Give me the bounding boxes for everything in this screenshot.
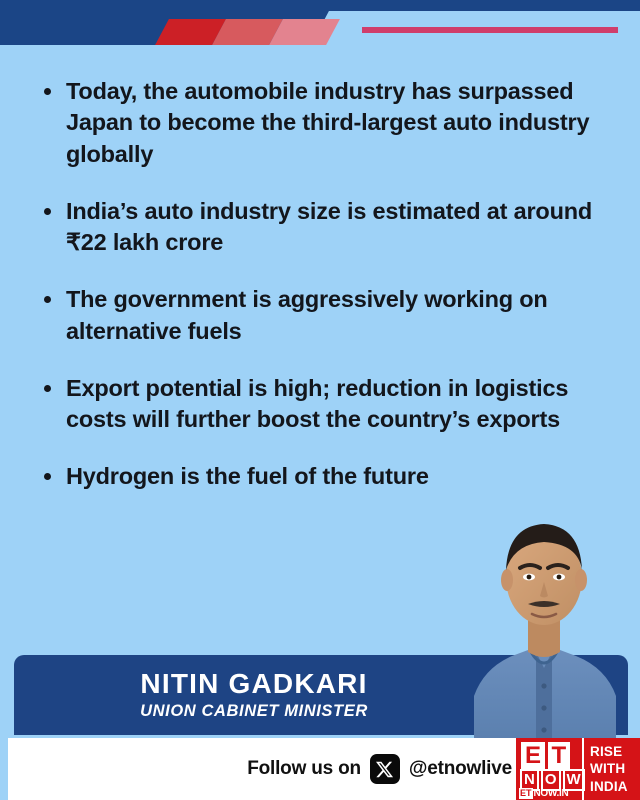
speaker-photo	[470, 500, 618, 745]
logo-letter-t: T	[548, 742, 570, 771]
logo-url-prefix: ET	[519, 788, 533, 799]
quote-points-list: Today, the automobile industry has surpa…	[38, 76, 618, 519]
speaker-banner-text: NITIN GADKARI UNION CABINET MINISTER	[14, 655, 494, 735]
speaker-name: NITIN GADKARI	[140, 669, 367, 698]
x-twitter-icon[interactable]	[370, 754, 400, 784]
social-handle[interactable]: @etnowlive	[409, 758, 512, 780]
footer-bar: Follow us on @etnowlive E T N O W	[0, 738, 640, 800]
speaker-designation: UNION CABINET MINISTER	[140, 702, 368, 721]
etnow-logo[interactable]: E T N O W ET NOW.IN RISE WITH INDIA	[516, 738, 640, 800]
list-item: Today, the automobile industry has surpa…	[38, 76, 618, 170]
list-item: Hydrogen is the fuel of the future	[38, 461, 618, 492]
accent-stripe-pink	[269, 19, 340, 45]
list-item: The government is aggressively working o…	[38, 284, 618, 347]
top-blue-band	[0, 0, 640, 11]
footer-left-accent	[0, 738, 8, 800]
logo-letter-e: E	[521, 742, 545, 771]
tagline-line-3: INDIA	[590, 778, 628, 795]
logo-website: ET NOW.IN	[519, 788, 568, 799]
news-quote-card: Today, the automobile industry has surpa…	[0, 0, 640, 800]
tagline-line-2: WITH	[590, 760, 625, 777]
header-rule	[362, 27, 618, 33]
etnow-logo-mark: E T N O W ET NOW.IN	[516, 738, 584, 800]
logo-url-rest: NOW.IN	[534, 789, 569, 799]
logo-et-letters: E T	[521, 742, 570, 771]
tagline-line-1: RISE	[590, 743, 622, 760]
follow-label: Follow us on	[247, 758, 361, 780]
follow-us-row: Follow us on @etnowlive	[247, 754, 512, 784]
list-item: India’s auto industry size is estimated …	[38, 196, 618, 259]
logo-tagline: RISE WITH INDIA	[584, 738, 640, 800]
list-item: Export potential is high; reduction in l…	[38, 373, 618, 436]
